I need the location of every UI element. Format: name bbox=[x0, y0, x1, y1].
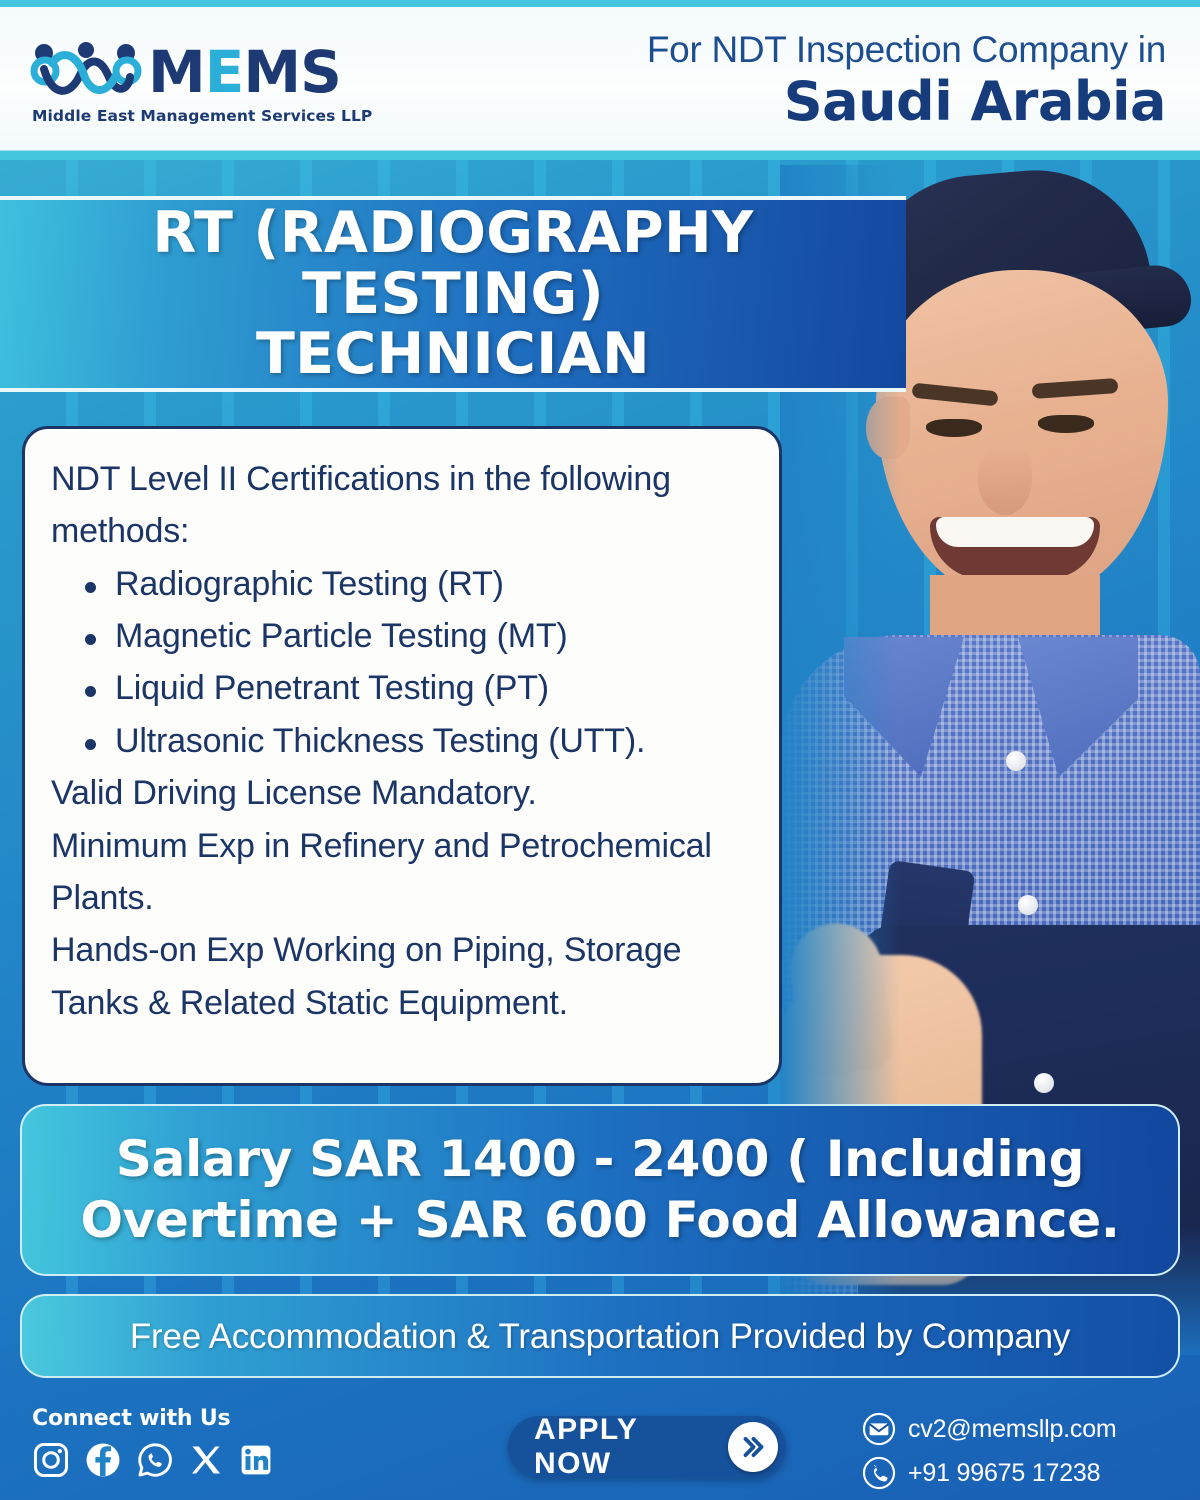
list-item: Liquid Penetrant Testing (PT) bbox=[77, 662, 753, 714]
social-icon-row bbox=[32, 1441, 432, 1479]
x-twitter-icon[interactable] bbox=[188, 1442, 224, 1478]
header-line-1: For NDT Inspection Company in bbox=[647, 29, 1166, 72]
accommodation-text: Free Accommodation & Transportation Prov… bbox=[130, 1319, 1070, 1354]
shirt-button bbox=[1006, 751, 1026, 771]
apply-arrow-badge bbox=[728, 1422, 778, 1472]
apply-now-label: APPLY NOW bbox=[534, 1413, 714, 1481]
job-title-line-1: RT (RADIOGRAPHY TESTING) bbox=[18, 203, 888, 324]
list-item: Magnetic Particle Testing (MT) bbox=[77, 610, 753, 662]
job-title-banner: RT (RADIOGRAPHY TESTING) TECHNICIAN bbox=[0, 196, 906, 392]
poster-header: MEMS Middle East Management Services LLP… bbox=[0, 0, 1200, 160]
logo-letter-m2: M bbox=[243, 38, 300, 106]
salary-text: Salary SAR 1400 - 2400 ( Including Overt… bbox=[44, 1129, 1156, 1251]
instagram-icon[interactable] bbox=[32, 1441, 70, 1479]
poster-footer: Connect with Us bbox=[0, 1392, 1200, 1500]
email-row[interactable]: cv2@memsllp.com bbox=[862, 1412, 1172, 1446]
nose-shape bbox=[978, 445, 1032, 515]
shirt-button bbox=[1018, 895, 1038, 915]
job-poster: MEMS Middle East Management Services LLP… bbox=[0, 0, 1200, 1500]
eye-right-shape bbox=[1038, 415, 1094, 433]
header-headline: For NDT Inspection Company in Saudi Arab… bbox=[647, 29, 1172, 131]
certification-methods-list: Radiographic Testing (RT) Magnetic Parti… bbox=[77, 558, 753, 767]
accommodation-banner: Free Accommodation & Transportation Prov… bbox=[20, 1294, 1180, 1378]
phone-text: +91 99675 17238 bbox=[908, 1459, 1100, 1488]
apply-section: APPLY NOW bbox=[432, 1406, 862, 1478]
envelope-icon bbox=[862, 1412, 896, 1446]
header-line-2: Saudi Arabia bbox=[647, 72, 1166, 131]
shirt-button bbox=[1034, 1073, 1054, 1093]
contact-section: cv2@memsllp.com +91 99675 17238 bbox=[862, 1406, 1172, 1500]
requirements-intro: NDT Level II Certifications in the follo… bbox=[51, 453, 753, 558]
mouth-shape bbox=[930, 517, 1100, 579]
logo-letter-e: E bbox=[205, 38, 244, 106]
requirement-note: Hands-on Exp Working on Piping, Storage … bbox=[51, 924, 753, 1029]
list-item: Radiographic Testing (RT) bbox=[77, 558, 753, 610]
job-title-line-2: TECHNICIAN bbox=[256, 324, 650, 384]
connect-label: Connect with Us bbox=[32, 1406, 432, 1431]
eye-left-shape bbox=[926, 419, 982, 437]
logo-letter-s: S bbox=[300, 38, 341, 106]
requirement-note: Minimum Exp in Refinery and Petrochemica… bbox=[51, 820, 753, 925]
requirement-note: Valid Driving License Mandatory. bbox=[51, 767, 753, 819]
facebook-icon[interactable] bbox=[84, 1441, 122, 1479]
apply-now-button[interactable]: APPLY NOW bbox=[508, 1416, 786, 1478]
logo-wordmark: MEMS bbox=[148, 43, 341, 101]
teeth-shape bbox=[936, 517, 1094, 547]
phone-icon bbox=[862, 1456, 896, 1490]
salary-banner: Salary SAR 1400 - 2400 ( Including Overt… bbox=[20, 1104, 1180, 1276]
email-text: cv2@memsllp.com bbox=[908, 1415, 1117, 1444]
whatsapp-icon[interactable] bbox=[136, 1441, 174, 1479]
requirements-card: NDT Level II Certifications in the follo… bbox=[22, 426, 782, 1086]
list-item: Ultrasonic Thickness Testing (UTT). bbox=[77, 715, 753, 767]
phone-row[interactable]: +91 99675 17238 bbox=[862, 1456, 1172, 1490]
double-chevron-right-icon bbox=[738, 1432, 768, 1462]
brand-logo: MEMS Middle East Management Services LLP bbox=[30, 35, 372, 125]
logo-letter-m1: M bbox=[148, 38, 205, 106]
mems-logo-icon bbox=[30, 41, 142, 103]
linkedin-icon[interactable] bbox=[238, 1442, 274, 1478]
connect-section: Connect with Us bbox=[32, 1406, 432, 1479]
logo-tagline: Middle East Management Services LLP bbox=[30, 107, 372, 125]
